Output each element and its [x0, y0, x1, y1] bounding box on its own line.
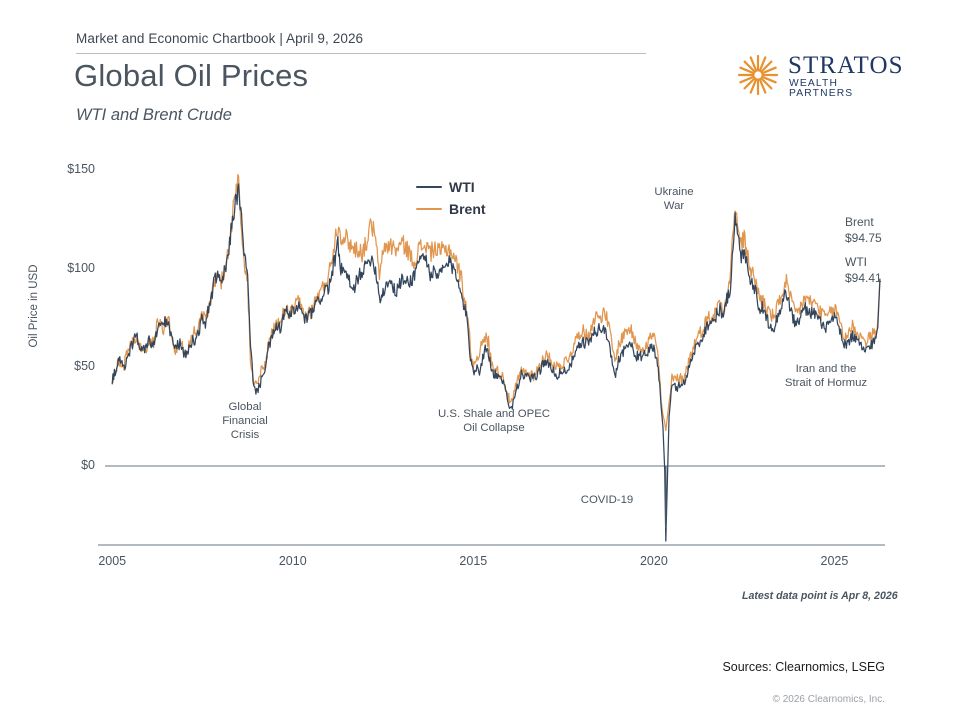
- annotation-global-financial-crisis-line-1: Financial: [165, 415, 325, 429]
- y-tick-100: $100: [35, 261, 95, 275]
- annotation-covid-19-line-0: COVID-19: [527, 494, 687, 508]
- annotation-iran-strait-of-hormuz: Iran and theStrait of Hormuz: [746, 363, 906, 391]
- chart-canvas: [0, 0, 960, 720]
- annotation-us-shale-opec-oil-collapse-line-1: Oil Collapse: [414, 422, 574, 436]
- annotation-ukraine-war-line-0: Ukraine: [594, 186, 754, 200]
- annotation-iran-strait-of-hormuz-line-0: Iran and the: [746, 363, 906, 377]
- y-tick-0: $0: [35, 458, 95, 472]
- x-tick-2015: 2015: [443, 554, 503, 568]
- annotation-us-shale-opec-oil-collapse: U.S. Shale and OPECOil Collapse: [414, 408, 574, 436]
- y-tick-50: $50: [35, 359, 95, 373]
- legend-item-brent: Brent: [416, 198, 486, 220]
- annotation-global-financial-crisis-line-2: Crisis: [165, 429, 325, 443]
- series-line-brent: [112, 174, 880, 430]
- end-label-brent-name: Brent: [845, 215, 882, 231]
- chartbook-slide: Market and Economic Chartbook | April 9,…: [0, 0, 960, 720]
- legend-swatch-wti: [416, 186, 442, 189]
- annotation-ukraine-war: UkraineWar: [594, 186, 754, 214]
- sources-note: Sources: Clearnomics, LSEG: [585, 659, 885, 675]
- legend-label-brent: Brent: [449, 201, 486, 217]
- annotation-iran-strait-of-hormuz-line-1: Strait of Hormuz: [746, 377, 906, 391]
- end-label-wti-name: WTI: [845, 255, 882, 271]
- legend-label-wti: WTI: [449, 179, 475, 195]
- end-label-wti: WTI $94.41: [845, 255, 882, 286]
- oil-price-chart: [0, 0, 960, 720]
- annotation-us-shale-opec-oil-collapse-line-0: U.S. Shale and OPEC: [414, 408, 574, 422]
- y-tick-150: $150: [35, 162, 95, 176]
- end-label-brent: Brent $94.75: [845, 215, 882, 246]
- x-tick-2010: 2010: [263, 554, 323, 568]
- x-tick-2005: 2005: [82, 554, 142, 568]
- x-tick-2020: 2020: [624, 554, 684, 568]
- copyright-note: © 2026 Clearnomics, Inc.: [585, 694, 885, 705]
- legend-item-wti: WTI: [416, 176, 486, 198]
- latest-data-point: Latest data point is Apr 8, 2026: [742, 590, 898, 602]
- annotation-global-financial-crisis: GlobalFinancialCrisis: [165, 401, 325, 443]
- x-tick-2025: 2025: [804, 554, 864, 568]
- annotation-covid-19: COVID-19: [527, 494, 687, 508]
- end-label-brent-value: $94.75: [845, 231, 882, 247]
- annotation-global-financial-crisis-line-0: Global: [165, 401, 325, 415]
- chart-legend: WTI Brent: [416, 176, 486, 220]
- legend-swatch-brent: [416, 208, 442, 211]
- annotation-ukraine-war-line-1: War: [594, 200, 754, 214]
- end-label-wti-value: $94.41: [845, 271, 882, 287]
